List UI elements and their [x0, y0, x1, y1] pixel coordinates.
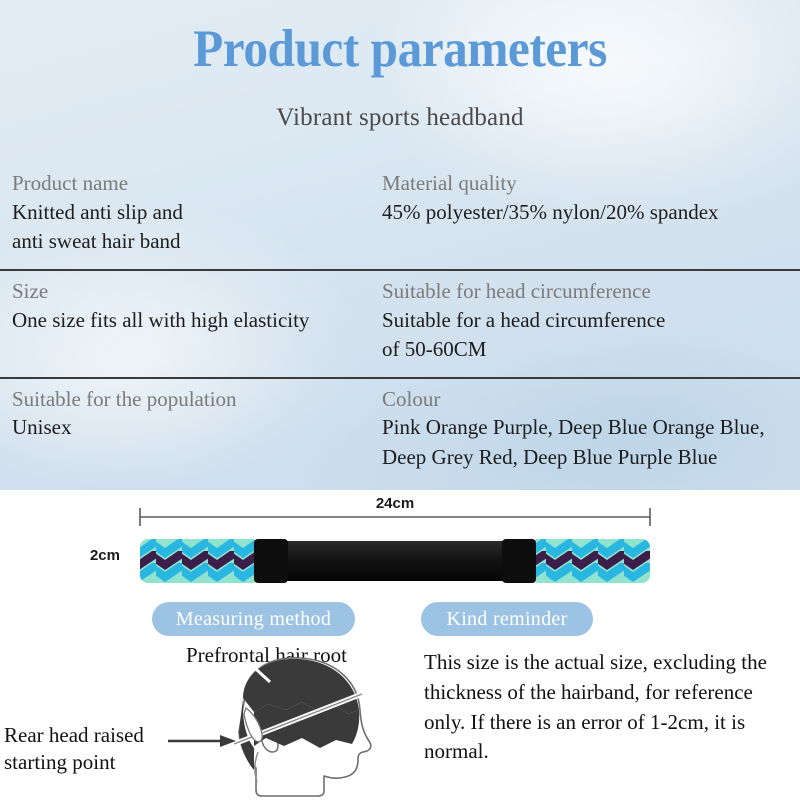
- spec-value-line: Suitable for a head circumference: [382, 306, 788, 335]
- reminder-text: This size is the actual size, excluding …: [424, 648, 796, 767]
- elastic-strap: [254, 541, 536, 581]
- headband-dimension-figure: 24cm 2cm: [130, 495, 660, 590]
- spec-value: Suitable for a head circumference of 50-…: [382, 306, 788, 365]
- product-parameters-infographic: Product parameters Vibrant sports headba…: [0, 0, 800, 800]
- header-panel: Product parameters Vibrant sports headba…: [0, 0, 800, 490]
- spec-value: One size fits all with high elasticity: [12, 306, 374, 335]
- badge-kind-reminder: Kind reminder: [421, 602, 593, 636]
- spec-label: Size: [12, 277, 374, 306]
- details-panel: 24cm 2cm: [0, 490, 800, 800]
- badge-measuring-method: Measuring method: [152, 602, 355, 636]
- spec-label: Suitable for head circumference: [382, 277, 788, 306]
- rear-head-label: Rear head raised starting point: [4, 722, 144, 777]
- table-row: Size One size fits all with high elastic…: [0, 269, 800, 377]
- width-dimension-label: 24cm: [130, 495, 660, 512]
- spec-value-line: of 50-60CM: [382, 335, 788, 364]
- spec-value-line: Unisex: [12, 413, 374, 442]
- spec-value-line: 45% polyester/35% nylon/20% spandex: [382, 198, 788, 227]
- section-badges: Measuring method Kind reminder: [0, 602, 800, 636]
- height-dimension-label: 2cm: [68, 547, 120, 564]
- spec-label: Colour: [382, 385, 788, 414]
- rear-point-arrow: [168, 735, 236, 747]
- spec-value-line: anti sweat hair band: [12, 227, 374, 256]
- spec-table: Product name Knitted anti slip and anti …: [0, 163, 800, 484]
- spec-cell-left: Suitable for the population Unisex: [8, 379, 378, 485]
- spec-value-line: One size fits all with high elasticity: [12, 306, 374, 335]
- spec-value: Unisex: [12, 413, 374, 442]
- spec-cell-left: Product name Knitted anti slip and anti …: [8, 163, 378, 269]
- spec-value-line: Knitted anti slip and: [12, 198, 374, 227]
- braid-right: [530, 539, 650, 583]
- braid-left: [140, 539, 260, 583]
- spec-cell-right: Suitable for head circumference Suitable…: [378, 271, 792, 377]
- spec-cell-right: Material quality 45% polyester/35% nylon…: [378, 163, 792, 269]
- spec-label: Suitable for the population: [12, 385, 374, 414]
- spec-value-line: Deep Grey Red, Deep Blue Purple Blue: [382, 443, 788, 472]
- head-profile-icon: [150, 648, 410, 798]
- head-measuring-diagram: Prefrontal hair root Rear head raised st…: [0, 640, 410, 800]
- page-subtitle: Vibrant sports headband: [0, 104, 800, 132]
- connector-tab-left: [254, 539, 288, 583]
- spec-value-line: Pink Orange Purple, Deep Blue Orange Blu…: [382, 413, 788, 442]
- spec-label: Product name: [12, 169, 374, 198]
- spec-value: 45% polyester/35% nylon/20% spandex: [382, 198, 788, 227]
- rear-head-label-line: starting point: [4, 749, 144, 776]
- spec-cell-left: Size One size fits all with high elastic…: [8, 271, 378, 377]
- table-row: Product name Knitted anti slip and anti …: [0, 163, 800, 269]
- spec-value: Knitted anti slip and anti sweat hair ba…: [12, 198, 374, 257]
- rear-head-label-line: Rear head raised: [4, 722, 144, 749]
- spec-cell-right: Colour Pink Orange Purple, Deep Blue Ora…: [378, 379, 792, 485]
- connector-tab-right: [502, 539, 536, 583]
- spec-value: Pink Orange Purple, Deep Blue Orange Blu…: [382, 413, 788, 472]
- spec-label: Material quality: [382, 169, 788, 198]
- page-title: Product parameters: [28, 20, 772, 78]
- table-row: Suitable for the population Unisex Colou…: [0, 377, 800, 485]
